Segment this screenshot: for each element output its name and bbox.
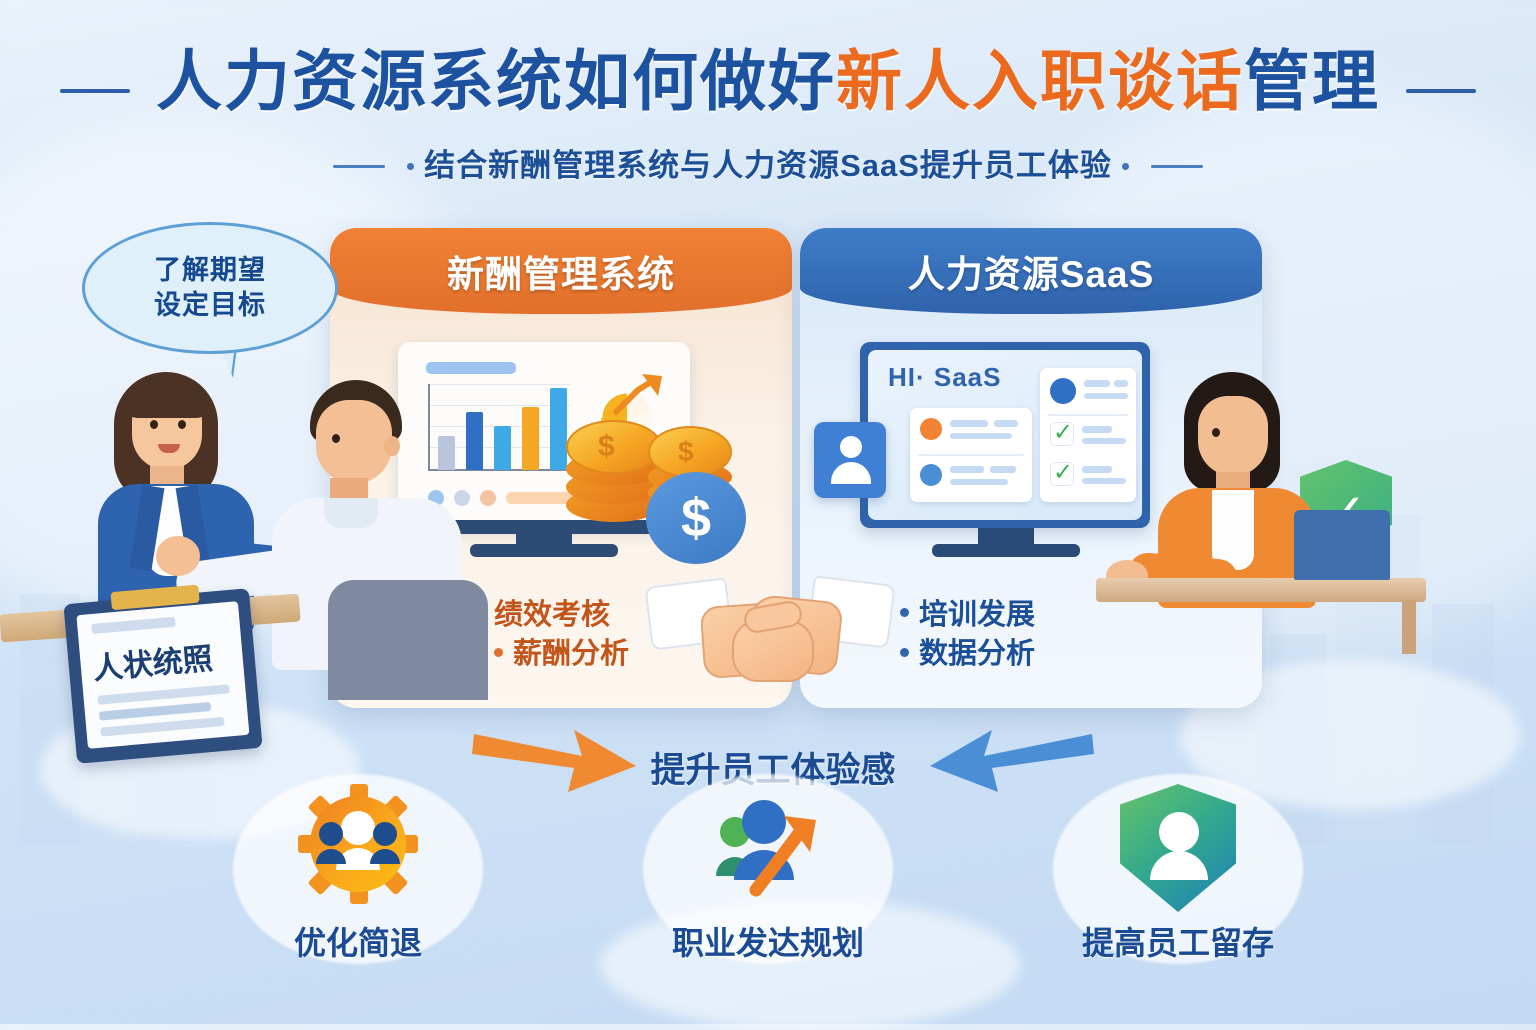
panel-right-title: 人力资源SaaS [908, 244, 1155, 298]
bullet-item: 绩效考核 [494, 596, 629, 635]
text-line [990, 466, 1016, 473]
panel-left-header: 新酬管理系统 [330, 228, 792, 314]
panel-right-bullets: 培训发展 数据分析 [900, 596, 1035, 675]
bullet-item: 数据分析 [900, 635, 1035, 674]
eye [178, 420, 186, 429]
clipboard[interactable]: 人状统照 [63, 588, 262, 764]
feature-career-development[interactable]: 职业发达规划 [618, 772, 918, 1002]
eye [150, 420, 158, 429]
shield-person-icon [1118, 784, 1238, 904]
subtitle-dot-right [1122, 163, 1129, 170]
shirt [1212, 490, 1254, 570]
text-line [1082, 438, 1126, 444]
text-line [1114, 380, 1128, 387]
chart-bar [550, 388, 567, 470]
eye [332, 434, 340, 443]
bullet-label: 培训发展 [919, 599, 1035, 631]
title-rule-left [60, 89, 130, 93]
subtitle-text: 结合新酬管理系统与人力资源SaaS提升员工体验 [424, 140, 1112, 185]
face [316, 400, 392, 484]
divider [918, 454, 1024, 456]
clipboard-paper: 人状统照 [76, 601, 249, 749]
text-line [994, 420, 1018, 427]
chair-back [328, 580, 488, 700]
text-line [1082, 426, 1112, 433]
coin-dollar-glyph: $ [598, 430, 615, 464]
page-title: 人力资源系统如何做好新人入职谈话管理 [0, 48, 1536, 114]
panel-left-title: 新酬管理系统 [447, 244, 675, 298]
feature-employee-retention[interactable]: 提高员工留存 [1028, 772, 1328, 1002]
ear [384, 436, 400, 456]
bullet-label: 绩效考核 [494, 599, 610, 631]
laptop-right [1294, 510, 1390, 580]
feature-label: 提高员工留存 [1082, 918, 1274, 964]
clipboard-label: 人状统照 [91, 634, 214, 688]
panel-right-header: 人力资源SaaS [800, 228, 1262, 314]
bullet-dot-icon [494, 648, 503, 657]
subtitle-rule-right [1151, 165, 1203, 168]
text-line [1084, 380, 1110, 387]
check-icon: ✓ [1053, 458, 1073, 487]
monitor-screen: HI· SaaS ✓ [868, 350, 1142, 520]
speech-bubble-line-1: 了解期望 [154, 253, 266, 288]
coin-dollar-glyph: $ [678, 436, 694, 468]
saas-checklist-card[interactable]: ✓ ✓ [1040, 368, 1136, 502]
title-part-orange: 新人入职谈话 [836, 48, 1244, 114]
infographic-canvas: 人力资源系统如何做好新人入职谈话管理 结合新酬管理系统与人力资源SaaS提升员工… [0, 0, 1536, 1024]
hair-front [126, 380, 208, 418]
page-subtitle: 结合新酬管理系统与人力资源SaaS提升员工体验 [0, 140, 1536, 185]
speech-bubble: 了解期望 设定目标 [82, 222, 338, 354]
handshake-illustration [648, 560, 892, 740]
saas-screen-title: HI· SaaS [888, 362, 1002, 393]
feature-label: 职业发达规划 [672, 918, 864, 964]
gear-people-icon [298, 784, 418, 904]
avatar [920, 464, 942, 486]
monitor-saas: HI· SaaS ✓ [860, 342, 1150, 558]
people-growth-arrow-icon [708, 784, 828, 904]
bullet-item: 薪酬分析 [494, 635, 629, 674]
subtitle-rule-left [333, 165, 385, 168]
divider [1048, 414, 1128, 416]
bullet-item: 培训发展 [900, 596, 1035, 635]
chart-bar [494, 426, 511, 470]
monitor-base [470, 544, 618, 557]
collar [324, 498, 378, 528]
dollar-badge: $ [646, 472, 746, 564]
screen-footer-dot [480, 490, 496, 506]
title-rule-right [1406, 89, 1476, 93]
avatar-tile [814, 422, 886, 498]
bullet-dot-icon [900, 608, 909, 617]
chart-bar [522, 407, 539, 470]
desk-right-leg [1402, 600, 1416, 654]
bullet-dot-icon [900, 648, 909, 657]
bullet-label: 数据分析 [919, 638, 1035, 670]
speech-bubble-line-2: 设定目标 [154, 288, 266, 323]
feature-optimize-retention[interactable]: 优化简退 [208, 772, 508, 1002]
desk-right [1096, 578, 1426, 602]
eye [1212, 428, 1220, 437]
saas-user-card[interactable] [910, 408, 1032, 502]
text-line [950, 433, 1012, 439]
avatar [1050, 378, 1076, 404]
title-part-blue-1: 人力资源系统如何做好 [156, 48, 836, 114]
text-line [1084, 393, 1128, 399]
screen-header-pill [426, 362, 516, 374]
title-part-blue-2: 管理 [1244, 48, 1380, 114]
panel-left-bullets: 绩效考核 薪酬分析 [494, 596, 629, 675]
feature-label: 优化简退 [294, 918, 422, 964]
text-line [950, 466, 984, 473]
text-line [1082, 466, 1112, 473]
person-new-employee [272, 380, 482, 670]
check-icon: ✓ [1053, 418, 1073, 447]
avatar [920, 418, 942, 440]
face [1198, 396, 1268, 476]
monitor-base [932, 544, 1080, 557]
hand-gesture [156, 536, 200, 576]
text-line [1082, 478, 1126, 484]
text-line [950, 479, 1008, 485]
subtitle-dot-left [407, 163, 414, 170]
text-line [950, 420, 988, 427]
bullet-label: 薪酬分析 [513, 638, 629, 670]
